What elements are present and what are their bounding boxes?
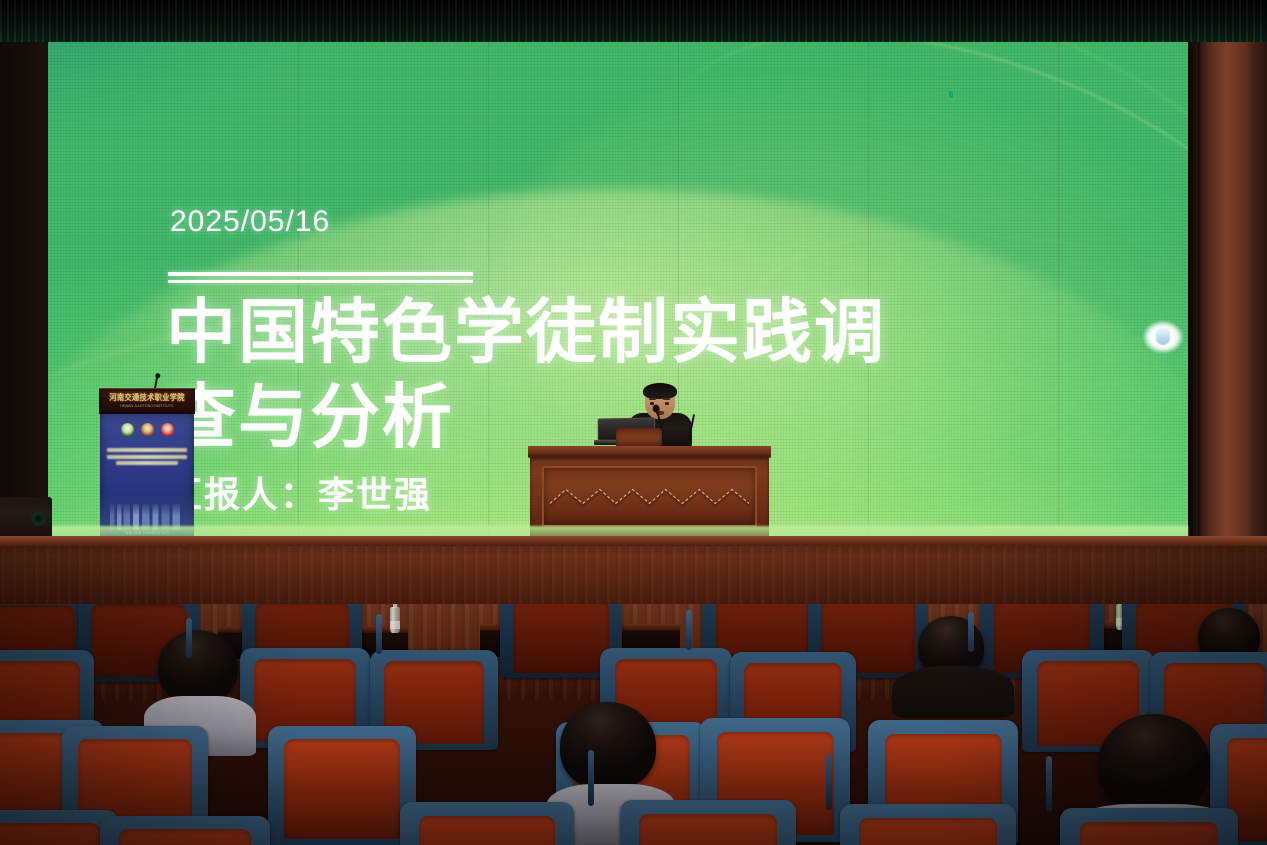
seat <box>100 816 270 845</box>
presenter-eyebrow-right <box>663 398 670 400</box>
seat-cushion <box>859 818 996 845</box>
desk-carved-panel <box>542 466 757 527</box>
audience-head <box>560 702 656 790</box>
seat-armrest <box>826 754 832 810</box>
audience-seating-area: 东 <box>0 604 1267 845</box>
seat-armrest <box>1046 756 1052 812</box>
stage-curtain-valance <box>0 0 1267 42</box>
emblem-logo-gold-icon <box>141 423 154 436</box>
podium-institution-name-cn: 河南交通技术职业学院 <box>103 392 191 403</box>
conference-photo: 2025/05/16 中国特色学徒制实践调 查与分析 汇报人：李世强 河南交通技… <box>0 0 1267 845</box>
podium-banner-text-line-2 <box>107 455 187 459</box>
seat <box>620 800 796 845</box>
audience-shoulders <box>892 666 1014 718</box>
slide-presenter: 汇报人：李世强 <box>166 466 432 518</box>
podium-banner: 河南·郑州 2025年5月16日 <box>100 414 194 538</box>
slide-rule-top <box>168 272 473 276</box>
seat <box>840 804 1016 845</box>
slide-rule-bottom <box>168 280 473 283</box>
slide-title-line-1: 中国特色学徒制实践调 <box>166 290 1036 375</box>
seat-armrest <box>588 750 594 806</box>
bottle-body <box>390 607 400 633</box>
desk-zigzag-inlay <box>550 496 749 497</box>
seat-cushion <box>284 739 399 839</box>
seat <box>400 802 574 845</box>
presenter-eyebrow-left <box>649 398 656 400</box>
seat-cushion <box>0 823 100 845</box>
desk-top-surface <box>528 446 771 457</box>
podium-logo-row <box>100 423 194 436</box>
seat-cushion <box>1080 822 1219 845</box>
bottle-label <box>390 621 400 629</box>
presenter-hair <box>643 383 677 399</box>
stage-curtain-right <box>1190 0 1267 552</box>
podium-institution-name-en: HENAN JIAOTONG INSTITUTE <box>99 404 195 408</box>
podium-nameplate: 河南交通技术职业学院 HENAN JIAOTONG INSTITUTE <box>99 388 195 414</box>
audience-head <box>1098 714 1210 814</box>
podium-banner-text-line-3 <box>116 461 178 465</box>
seat-armrest <box>376 614 382 654</box>
seat-armrest <box>186 618 192 658</box>
presenter-chair-back <box>616 428 662 448</box>
emblem-logo-red-icon <box>161 423 174 436</box>
slide-date: 2025/05/16 <box>170 205 330 239</box>
podium-banner-text-block <box>106 448 188 465</box>
audience-head <box>158 630 238 704</box>
seat-cushion <box>419 816 555 845</box>
lectern-podium: 河南交通技术职业学院 HENAN JIAOTONG INSTITUTE 河南·郑… <box>99 388 195 538</box>
presenter-eye-right <box>665 402 669 405</box>
seat <box>268 726 416 845</box>
valance-pleat-texture <box>0 0 1267 42</box>
seat-cushion <box>639 814 776 845</box>
led-dead-pixel <box>949 91 953 98</box>
led-panel-seam <box>1058 26 1059 536</box>
seat-armrest <box>968 612 974 652</box>
presenter-desk <box>528 446 771 538</box>
seat-cushion <box>119 829 252 845</box>
glowing-oval-bulb-icon <box>1142 320 1184 354</box>
seat-armrest <box>686 610 692 650</box>
podium-banner-text-line-1 <box>107 448 187 452</box>
seat <box>1060 808 1238 845</box>
emblem-logo-green-icon <box>121 423 134 436</box>
slide-divider-rules <box>168 272 473 283</box>
stage-monitor-speaker <box>0 497 52 541</box>
seat-cushion <box>513 604 608 673</box>
